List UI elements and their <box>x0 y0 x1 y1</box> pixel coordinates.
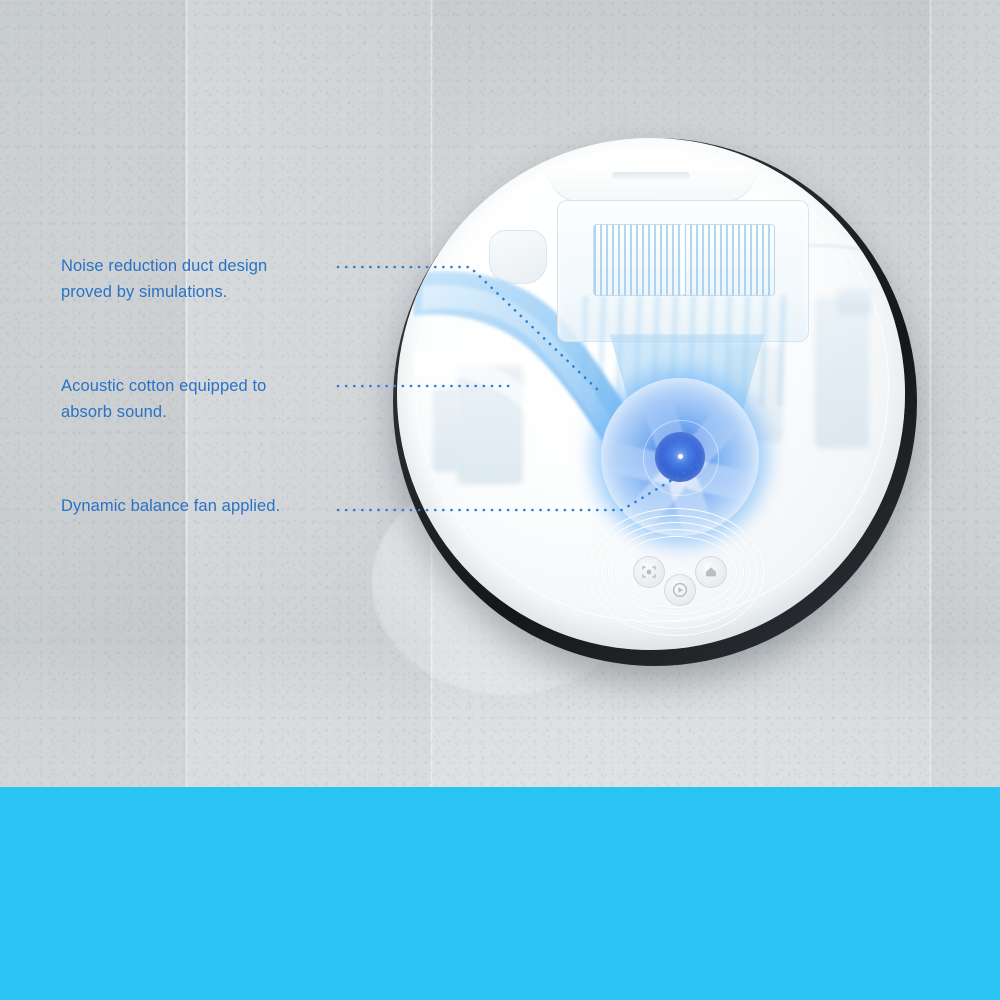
robot-vacuum <box>393 138 917 666</box>
spot-clean-icon <box>641 564 657 580</box>
fan-center-dot <box>678 454 683 459</box>
robot-body <box>397 138 905 650</box>
callout-noise-duct: Noise reduction duct design proved by si… <box>61 254 267 305</box>
etched-rings <box>585 506 765 636</box>
sensor-slot <box>612 172 690 180</box>
filter-divider <box>681 224 685 294</box>
spot-clean-button[interactable] <box>633 556 665 588</box>
product-photo: Noise reduction duct design proved by si… <box>0 0 1000 787</box>
fan-hub <box>655 432 705 482</box>
start-pause-button[interactable] <box>664 574 696 606</box>
play-icon <box>672 582 688 598</box>
bottom-banner: Quiet Cleaning Triple noise suppression … <box>0 787 1000 1000</box>
internal-component <box>815 298 869 448</box>
home-icon <box>703 564 719 580</box>
marketing-image: Noise reduction duct design proved by si… <box>0 0 1000 1000</box>
dock-home-button[interactable] <box>695 556 727 588</box>
callout-acoustic-cotton: Acoustic cotton equipped to absorb sound… <box>61 374 266 425</box>
callout-balance-fan: Dynamic balance fan applied. <box>61 494 280 520</box>
